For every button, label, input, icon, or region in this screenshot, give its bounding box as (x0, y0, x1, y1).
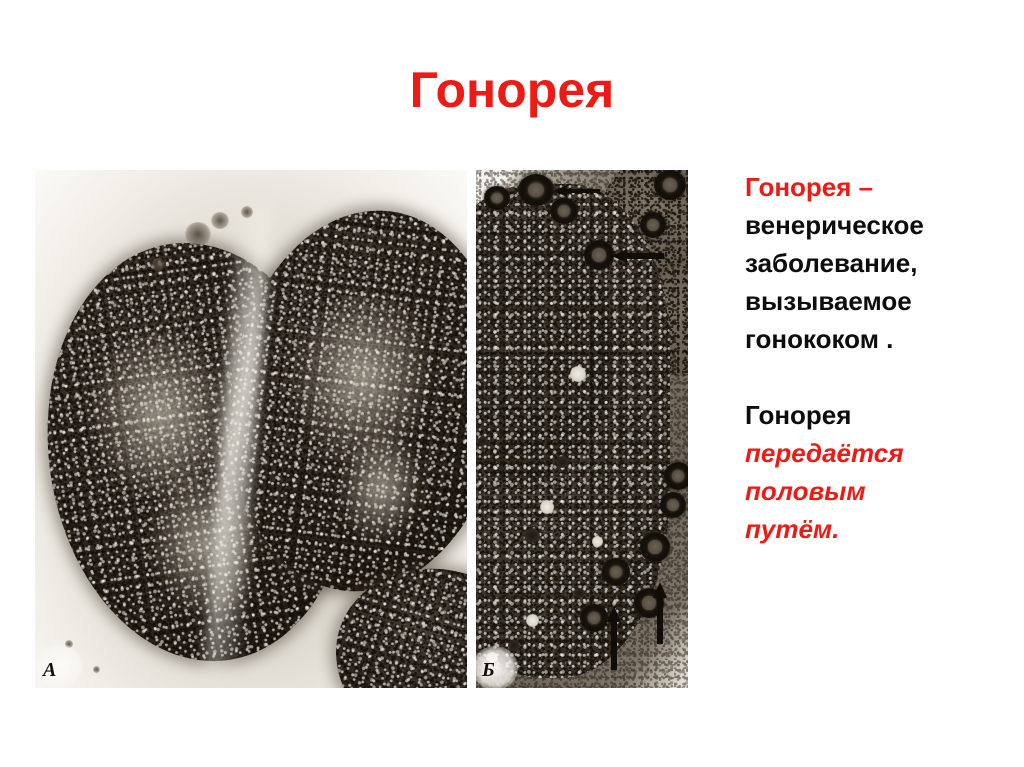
paragraph-2-lead: Гонорея (745, 400, 851, 430)
gonococcus-ring (640, 532, 670, 562)
gonococcus-ring (664, 462, 688, 490)
gonococcus-ring (640, 212, 666, 238)
pointer-arrow-up-left (606, 606, 622, 670)
dark-granule (478, 436, 488, 446)
page-title: Гонорея (0, 64, 1024, 117)
capsule-blob (93, 666, 100, 673)
micrograph-panel-b: Б (476, 170, 688, 688)
capsule-blob (211, 212, 229, 229)
paragraph-transmission: Гонорея передаётся половым путём. (745, 396, 1013, 548)
cytoplasmic-vesicle (570, 366, 586, 382)
pointer-arrow-left-top (554, 184, 600, 198)
gonococcus-ring (550, 198, 578, 224)
panel-a-label: А (43, 659, 56, 682)
gonococcus-ring (660, 492, 686, 518)
cytoplasmic-vesicle (592, 536, 603, 547)
paragraph-definition: Гонорея – венерическое заболевание, вызы… (745, 168, 1013, 358)
paragraph-1-line-4: вызываемое (745, 286, 912, 316)
panel-b-label: Б (482, 659, 495, 682)
gonococcus-ring (654, 170, 686, 200)
paragraph-2-line-2: передаётся (745, 438, 904, 468)
paragraph-1-lead: Гонорея – (745, 172, 873, 202)
pointer-arrow-left-middle (612, 248, 664, 264)
cytoplasmic-vesicle (526, 614, 539, 627)
gonococcus-ring (580, 604, 608, 632)
body-text-column: Гонорея – венерическое заболевание, вызы… (745, 168, 1013, 548)
dark-granule (508, 640, 520, 651)
cytoplasmic-vesicle (540, 500, 554, 514)
capsule-blob (185, 222, 211, 246)
micrograph-panel-a: А (35, 170, 467, 688)
dark-granule (524, 528, 540, 543)
dark-granule (574, 588, 585, 598)
paragraph-1-line-2: венерическое (745, 210, 924, 240)
pointer-arrow-up-right (652, 582, 668, 644)
paragraph-1-line-5: гонококом . (745, 324, 893, 354)
electron-micrograph-figure: А (35, 170, 688, 688)
paragraph-2-line-3: половым (745, 476, 866, 506)
gonococcus-ring (602, 558, 630, 586)
paragraph-2-line-4: путём. (745, 514, 839, 544)
capsule-blob (151, 258, 165, 271)
capsule-blob (241, 206, 253, 218)
gonococcus-ring (584, 240, 614, 270)
panel-divider (467, 170, 476, 688)
dark-granule (556, 456, 569, 468)
gonococcus-ring (518, 174, 554, 206)
paragraph-1-line-3: заболевание, (745, 248, 917, 278)
gonococcus-ring (484, 186, 510, 210)
